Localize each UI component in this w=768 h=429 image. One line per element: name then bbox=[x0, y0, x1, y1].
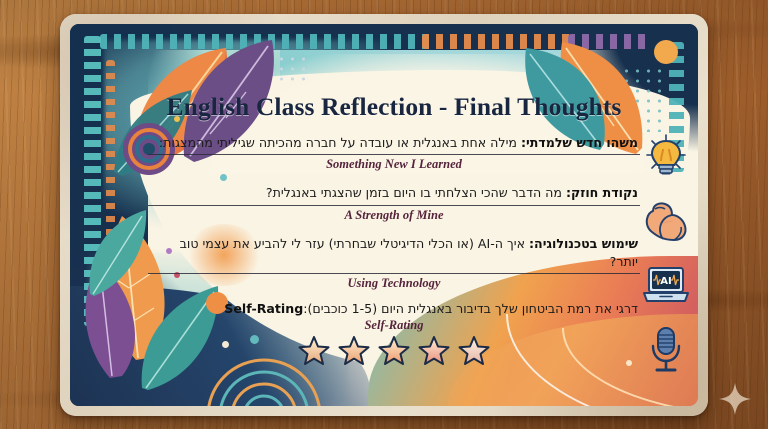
question-text-2: נקודת חוזק: מה הדבר שהכי הצלחתי בו היום … bbox=[148, 184, 640, 202]
star-icon-5[interactable] bbox=[458, 335, 490, 366]
lightbulb-icon bbox=[644, 132, 688, 178]
question-text-1: משהו חדש שלמדתי: מילה אחת באנגלית או עוב… bbox=[148, 134, 640, 152]
icon-slot-3: AI bbox=[638, 254, 694, 316]
question-lead-1: משהו חדש שלמדתי: bbox=[521, 135, 638, 150]
answer-line-3[interactable] bbox=[148, 273, 640, 274]
sparkle-icon bbox=[718, 382, 752, 416]
laptop-ai-icon: AI bbox=[640, 263, 692, 307]
worksheet-content: English Class Reflection - Final Thought… bbox=[148, 46, 640, 392]
question-body-1: מילה אחת באנגלית או עובדה על חברה מהכיתה… bbox=[159, 135, 521, 150]
reflection-item-3: שימוש בטכנולוגיה: איך ה-AI (או הכלי הדיג… bbox=[148, 235, 640, 292]
question-subtitle-1: Something New I Learned bbox=[148, 157, 640, 172]
illustrated-panel: English Class Reflection - Final Thought… bbox=[70, 24, 698, 406]
answer-line-2[interactable] bbox=[148, 205, 640, 206]
reflection-worksheet-card: English Class Reflection - Final Thought… bbox=[60, 14, 708, 416]
microphone-icon bbox=[646, 325, 686, 373]
page-title: English Class Reflection - Final Thought… bbox=[148, 92, 640, 122]
question-body-2: מה הדבר שהכי הצלחתי בו היום בזמן שהצגתי … bbox=[266, 185, 566, 200]
svg-text:AI: AI bbox=[660, 276, 671, 287]
sun-dot-top-right bbox=[654, 40, 678, 64]
icon-slot-1 bbox=[638, 124, 694, 186]
star-rating-row[interactable] bbox=[148, 335, 640, 366]
star-icon-4[interactable] bbox=[418, 335, 450, 366]
self-rating-subtitle: Self-Rating bbox=[148, 318, 640, 333]
self-rating-body: דרגי את רמת הביטחון שלך בדיבור באנגלית ה… bbox=[303, 301, 638, 316]
answer-line-1[interactable] bbox=[148, 154, 640, 155]
star-icon-2[interactable] bbox=[338, 335, 370, 366]
flexed-bicep-icon bbox=[643, 199, 689, 243]
star-icon-1[interactable] bbox=[298, 335, 330, 366]
question-subtitle-2: A Strength of Mine bbox=[148, 208, 640, 223]
leaf-art-bottom-left-green bbox=[82, 206, 152, 298]
reflection-item-1: משהו חדש שלמדתי: מילה אחת באנגלית או עוב… bbox=[148, 134, 640, 172]
self-rating-item: דרגי את רמת הביטחון שלך בדיבור באנגלית ה… bbox=[148, 300, 640, 366]
question-text-3: שימוש בטכנולוגיה: איך ה-AI (או הכלי הדיג… bbox=[148, 235, 640, 272]
question-lead-2: נקודת חוזק: bbox=[566, 185, 638, 200]
icon-column: AI bbox=[638, 120, 694, 380]
question-subtitle-3: Using Technology bbox=[148, 276, 640, 291]
star-icon-3[interactable] bbox=[378, 335, 410, 366]
icon-slot-4 bbox=[638, 318, 694, 380]
self-rating-text: דרגי את רמת הביטחון שלך בדיבור באנגלית ה… bbox=[148, 300, 640, 318]
reflection-item-2: נקודת חוזק: מה הדבר שהכי הצלחתי בו היום … bbox=[148, 184, 640, 222]
icon-slot-2 bbox=[638, 190, 694, 252]
self-rating-lead: Self-Rating bbox=[224, 301, 303, 316]
question-lead-3: שימוש בטכנולוגיה: bbox=[529, 236, 638, 251]
screenshot-scene: English Class Reflection - Final Thought… bbox=[0, 0, 768, 429]
